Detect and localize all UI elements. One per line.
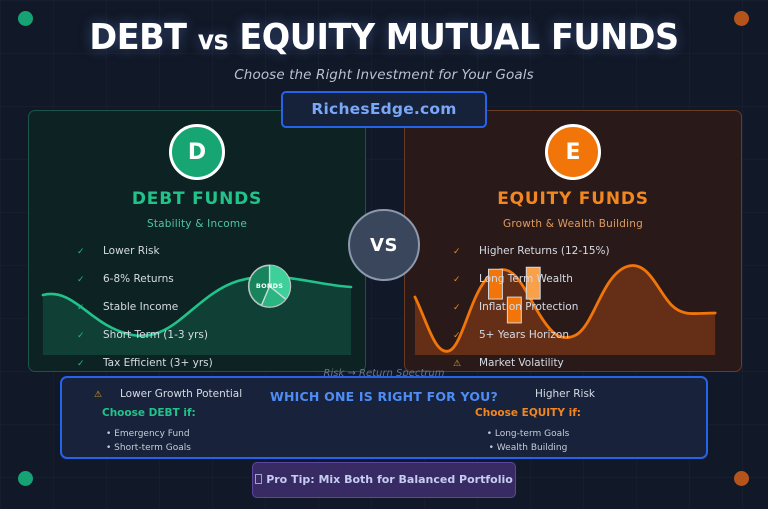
debt-panel-subtitle: Stability & Income [29,218,365,230]
list-item: ✓ Higher Returns (12-15%) [453,245,741,273]
title-vs: vs [198,25,228,56]
list-item: ✓ 6-8% Returns [77,273,365,301]
list-item: • Emergency Fund [106,427,382,441]
pro-tip-text: Pro Tip: Mix Both for Balanced Portfolio [266,473,513,486]
feature-label: Higher Returns (12-15%) [479,245,610,257]
decision-box: WHICH ONE IS RIGHT FOR YOU? Choose DEBT … [60,376,708,459]
title-part-equity: EQUITY MUTUAL FUNDS [239,17,678,58]
equity-panel-title: EQUITY FUNDS [405,189,741,209]
corner-dot-bottom-left [18,471,33,486]
feature-label: Inflation Protection [479,301,578,313]
feature-label: Lower Risk [103,245,160,257]
page-subtitle: Choose the Right Investment for Your Goa… [0,67,768,83]
list-item: ✓ Short Term (1-3 yrs) [77,329,365,357]
missing-glyph-icon [255,474,262,484]
list-item: ✓ 5+ Years Horizon [453,329,741,357]
infographic-canvas: DEBT vs EQUITY MUTUAL FUNDS Choose the R… [0,0,768,509]
check-icon: ✓ [453,275,479,285]
choose-debt-points: • Emergency Fund • Short-term Goals [82,427,382,455]
warning-icon: ⚠ [94,390,120,400]
debt-panel-title: DEBT FUNDS [29,189,365,209]
debt-badge-icon: D [169,124,225,180]
list-item: ✓ Inflation Protection [453,301,741,329]
feature-label: Lower Growth Potential [120,388,242,400]
list-item: • Short-term Goals [106,441,382,455]
equity-funds-panel: E EQUITY FUNDS Growth & Wealth Building … [404,110,742,372]
pro-tip-banner: Pro Tip: Mix Both for Balanced Portfolio [252,462,516,498]
feature-label: Short Term (1-3 yrs) [103,329,208,341]
choose-equity-points: • Long-term Goals • Wealth Building [378,427,678,455]
equity-feature-list: ✓ Higher Returns (12-15%) ✓ Long Term We… [405,245,741,372]
decision-column-debt: Choose DEBT if: • Emergency Fund • Short… [82,407,382,455]
equity-panel-subtitle: Growth & Wealth Building [405,218,741,230]
choose-debt-title: Choose DEBT if: [82,407,382,419]
debt-warning-row: ⚠ Lower Growth Potential [94,388,242,400]
equity-badge-icon: E [545,124,601,180]
list-item: • Long-term Goals [378,427,678,441]
list-item: ✓ Stable Income [77,301,365,329]
feature-label: 5+ Years Horizon [479,329,569,341]
vs-divider-badge: VS [348,209,420,281]
check-icon: ✓ [453,331,479,341]
title-part-debt: DEBT [89,17,186,58]
header: DEBT vs EQUITY MUTUAL FUNDS Choose the R… [0,0,768,128]
choose-equity-title: Choose EQUITY if: [378,407,678,419]
list-item: • Wealth Building [378,441,678,455]
feature-label: Stable Income [103,301,178,313]
check-icon: ✓ [77,331,103,341]
list-item: ✓ Lower Risk [77,245,365,273]
check-icon: ✓ [77,247,103,257]
debt-feature-list: ✓ Lower Risk ✓ 6-8% Returns ✓ Stable Inc… [29,245,365,372]
debt-funds-panel: BONDS D DEBT FUNDS Stability & Income ✓ … [28,110,366,372]
equity-panel-content: E EQUITY FUNDS Growth & Wealth Building … [405,111,741,372]
equity-warning-row: Higher Risk [535,388,595,400]
decision-column-equity: Choose EQUITY if: • Long-term Goals • We… [378,407,678,455]
page-title: DEBT vs EQUITY MUTUAL FUNDS [27,17,741,58]
check-icon: ✓ [77,275,103,285]
feature-label: Long Term Wealth [479,273,573,285]
list-item: ✓ Long Term Wealth [453,273,741,301]
corner-dot-bottom-right [734,471,749,486]
brand-badge[interactable]: RichesEdge.com [281,91,486,128]
check-icon: ✓ [77,303,103,313]
debt-panel-content: D DEBT FUNDS Stability & Income ✓ Lower … [29,111,365,372]
feature-label: 6-8% Returns [103,273,174,285]
check-icon: ✓ [453,303,479,313]
feature-label: Higher Risk [535,388,595,400]
check-icon: ✓ [453,247,479,257]
